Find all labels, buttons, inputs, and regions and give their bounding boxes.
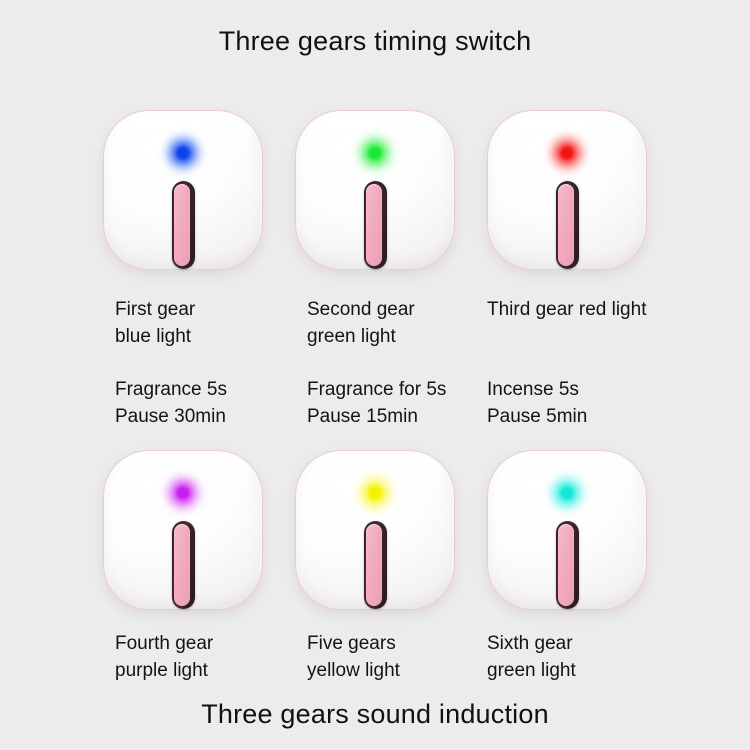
aroma-diffuser-device-5[interactable]: [295, 450, 455, 610]
slider-knob[interactable]: [366, 184, 382, 266]
slider-knob[interactable]: [366, 524, 382, 606]
slider-knob[interactable]: [558, 184, 574, 266]
product-infographic: Three gears timing switch First gear blu…: [0, 0, 750, 750]
aroma-diffuser-device-6[interactable]: [487, 450, 647, 610]
slider-switch-1[interactable]: [172, 181, 195, 269]
device-cell-third-gear: Third gear red light Incense 5s Pause 5m…: [467, 110, 667, 270]
slider-switch-2[interactable]: [364, 181, 387, 269]
purple-led-indicator: [178, 487, 189, 498]
slider-switch-6[interactable]: [556, 521, 579, 609]
aroma-diffuser-device-1[interactable]: [103, 110, 263, 270]
aroma-diffuser-device-3[interactable]: [487, 110, 647, 270]
led-core: [177, 487, 189, 499]
device-cell-fifth-gear: Five gears yellow light: [275, 450, 475, 610]
slider-knob[interactable]: [558, 524, 574, 606]
led-core: [369, 147, 381, 159]
cyan-led-indicator: [562, 487, 573, 498]
timing-label-third: Incense 5s Pause 5min: [467, 376, 727, 430]
aroma-diffuser-device-2[interactable]: [295, 110, 455, 270]
device-cell-fourth-gear: Fourth gear purple light: [83, 450, 283, 610]
green-led-indicator: [370, 147, 381, 158]
slider-knob[interactable]: [174, 524, 190, 606]
gear-label-third: Third gear red light: [467, 296, 727, 323]
gear-label-sixth: Sixth gear green light: [467, 630, 727, 684]
yellow-led-indicator: [370, 487, 381, 498]
device-cell-second-gear: Second gear green light Fragrance for 5s…: [275, 110, 475, 270]
led-core: [561, 147, 573, 159]
top-title: Three gears timing switch: [0, 26, 750, 57]
red-led-indicator: [562, 147, 573, 158]
slider-switch-3[interactable]: [556, 181, 579, 269]
device-cell-sixth-gear: Sixth gear green light: [467, 450, 667, 610]
led-core: [177, 147, 189, 159]
device-cell-first-gear: First gear blue light Fragrance 5s Pause…: [83, 110, 283, 270]
slider-knob[interactable]: [174, 184, 190, 266]
blue-led-indicator: [178, 147, 189, 158]
aroma-diffuser-device-4[interactable]: [103, 450, 263, 610]
led-core: [561, 487, 573, 499]
slider-switch-5[interactable]: [364, 521, 387, 609]
bottom-title: Three gears sound induction: [0, 699, 750, 730]
led-core: [369, 487, 381, 499]
slider-switch-4[interactable]: [172, 521, 195, 609]
